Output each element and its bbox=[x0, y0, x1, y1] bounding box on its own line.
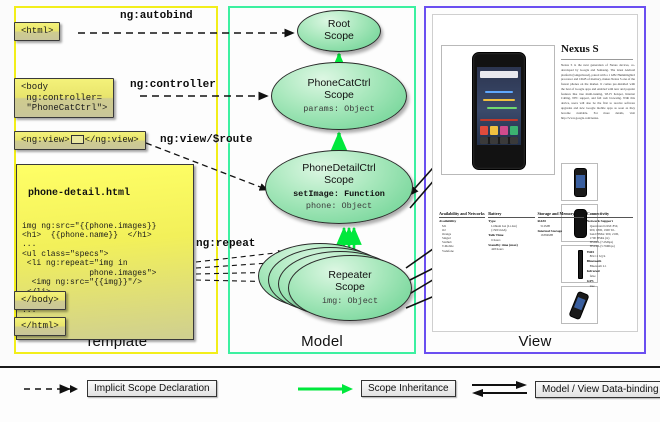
scope-repeater-prop-img: img: Object bbox=[322, 296, 378, 306]
thumbnail-item[interactable] bbox=[561, 163, 598, 201]
spec-heading: Storage and Memory bbox=[538, 211, 584, 218]
spec-value: 802.11 b/g/n bbox=[587, 254, 633, 258]
scope-phonedetailctrl-title: PhoneDetailCtrl Scope bbox=[302, 163, 376, 187]
spec-value: false bbox=[587, 274, 633, 278]
legend: Implicit Scope Declaration Scope Inherit… bbox=[0, 366, 660, 422]
screen-nav-bar bbox=[480, 137, 518, 144]
edge-label-repeat: ng:repeat bbox=[196, 238, 255, 250]
spec-value: 512MB bbox=[538, 224, 584, 228]
view-page-title: Nexus S bbox=[561, 43, 599, 55]
snippet-filename: phone-detail.html bbox=[22, 188, 188, 203]
phone-search-bar bbox=[480, 71, 518, 78]
diagram-canvas: Template Model View bbox=[0, 0, 660, 420]
edge-label-autobind: ng:autobind bbox=[120, 10, 193, 22]
scope-phonecatctrl-prop-params: params: Object bbox=[303, 104, 374, 114]
scope-root: Root Scope bbox=[297, 10, 381, 52]
spec-value: Bluetooth 2.1 bbox=[587, 264, 633, 268]
spec-value: 428 hours bbox=[488, 247, 534, 251]
screen-app-icons bbox=[480, 126, 518, 135]
spec-value: HSUPA (5.76Mbps) bbox=[587, 244, 633, 248]
legend-label: Scope Inheritance bbox=[361, 380, 456, 397]
spec-value: 6 hours bbox=[488, 238, 534, 242]
legend-item-scope-inheritance: Scope Inheritance bbox=[296, 380, 456, 397]
spec-value: (1500 mAh) bbox=[488, 228, 534, 232]
code-ngview-element: <ng:view></ng:view> bbox=[14, 131, 146, 150]
screen-widget-line-2 bbox=[483, 99, 515, 101]
spec-value: Vodafone bbox=[439, 249, 485, 253]
view-page-description: Nexus S is the next generation of Nexus … bbox=[561, 63, 635, 120]
hero-phone-image bbox=[472, 52, 526, 170]
code-html-close: </html> bbox=[14, 317, 66, 336]
screen-divider bbox=[480, 119, 518, 121]
code-html-open: <html> bbox=[14, 22, 60, 41]
code-ngview-close: </ng:view> bbox=[85, 135, 139, 145]
scope-repeater: Repeater Scope img: Object bbox=[288, 255, 412, 321]
scope-phonedetailctrl-prop-phone: phone: Object bbox=[306, 201, 372, 211]
spec-heading: Availability and Networks bbox=[439, 211, 485, 218]
legend-label: Implicit Scope Declaration bbox=[87, 380, 217, 397]
spec-value: true bbox=[587, 284, 633, 288]
spec-column: Availability and Networks Availability M… bbox=[439, 211, 485, 288]
thumbnail-item[interactable] bbox=[561, 286, 598, 324]
specs-table: Availability and Networks Availability M… bbox=[439, 211, 633, 288]
screen-widget-line-1 bbox=[485, 91, 513, 93]
hero-image-frame bbox=[441, 45, 555, 175]
legend-item-implicit-scope-declaration: Implicit Scope Declaration bbox=[22, 380, 217, 397]
legend-item-data-binding: Model / View Data-binding bbox=[470, 380, 660, 398]
spec-heading: Connectivity bbox=[587, 211, 633, 218]
screen-widget-line-3 bbox=[487, 107, 517, 109]
edge-label-route: ng:view/$route bbox=[160, 134, 252, 146]
code-ngview-open: <ng:view> bbox=[21, 135, 70, 145]
code-snippet-phone-detail: phone-detail.html img ng:src="{{phone.im… bbox=[16, 164, 194, 340]
scope-phonecatctrl-title: PhoneCatCtrl Scope bbox=[307, 78, 370, 102]
title-underline bbox=[561, 59, 633, 60]
dashed-arrow-icon bbox=[22, 383, 80, 395]
scope-repeater-title: Repeater Scope bbox=[328, 270, 371, 294]
spec-value: 16384MB bbox=[538, 233, 584, 237]
solid-arrow-icon bbox=[296, 383, 354, 395]
code-body-open: <body ng:controller= "PhoneCatCtrl"> bbox=[14, 78, 114, 118]
scope-root-title: Root Scope bbox=[324, 19, 354, 43]
double-arrow-icon bbox=[470, 380, 528, 398]
spec-column: Battery Type Lithium Ion (Li-Ion) (1500 … bbox=[488, 211, 534, 288]
scope-phonecatctrl: PhoneCatCtrl Scope params: Object bbox=[271, 62, 407, 130]
legend-label: Model / View Data-binding bbox=[535, 381, 660, 398]
ngview-placeholder-rect bbox=[71, 135, 84, 144]
hero-phone-screen bbox=[477, 67, 521, 145]
spec-column: Storage and Memory RAM 512MB Internal St… bbox=[538, 211, 584, 288]
code-body-close: </body> bbox=[14, 291, 66, 310]
panel-model-label: Model bbox=[230, 333, 414, 350]
spec-heading: Battery bbox=[488, 211, 534, 218]
spec-column: Connectivity Network Support Quad-band G… bbox=[587, 211, 633, 288]
scope-phonedetailctrl: PhoneDetailCtrl Scope setImage: Function… bbox=[265, 150, 413, 224]
edge-label-controller: ng:controller bbox=[130, 79, 216, 91]
scope-phonedetailctrl-prop-setimage: setImage: Function bbox=[293, 189, 385, 199]
view-rendered-page: Nexus S Nexus S is the next generation o… bbox=[432, 14, 638, 332]
panel-view-label: View bbox=[426, 333, 644, 350]
